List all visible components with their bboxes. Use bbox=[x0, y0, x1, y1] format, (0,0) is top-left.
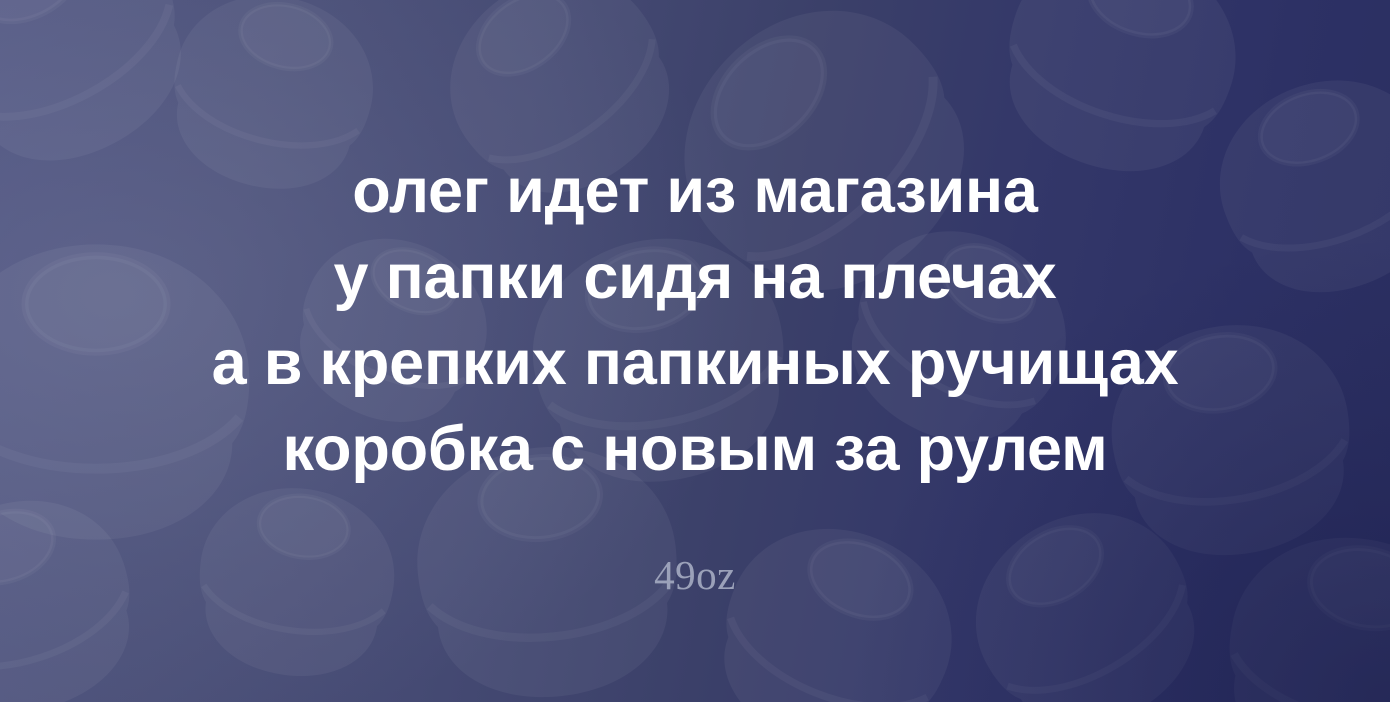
quote-text: олег идет из магазина у папки сидя на пл… bbox=[70, 148, 1320, 492]
attribution-label: 49oz bbox=[654, 555, 736, 596]
quote-card: олег идет из магазина у папки сидя на пл… bbox=[0, 0, 1390, 702]
quote-line-3: а в крепких папкиных ручищах bbox=[70, 320, 1320, 406]
card-content: олег идет из магазина у папки сидя на пл… bbox=[0, 0, 1390, 702]
quote-line-4: коробка с новым за рулем bbox=[70, 406, 1320, 492]
quote-line-1: олег идет из магазина bbox=[70, 148, 1320, 234]
quote-line-2: у папки сидя на плечах bbox=[70, 234, 1320, 320]
